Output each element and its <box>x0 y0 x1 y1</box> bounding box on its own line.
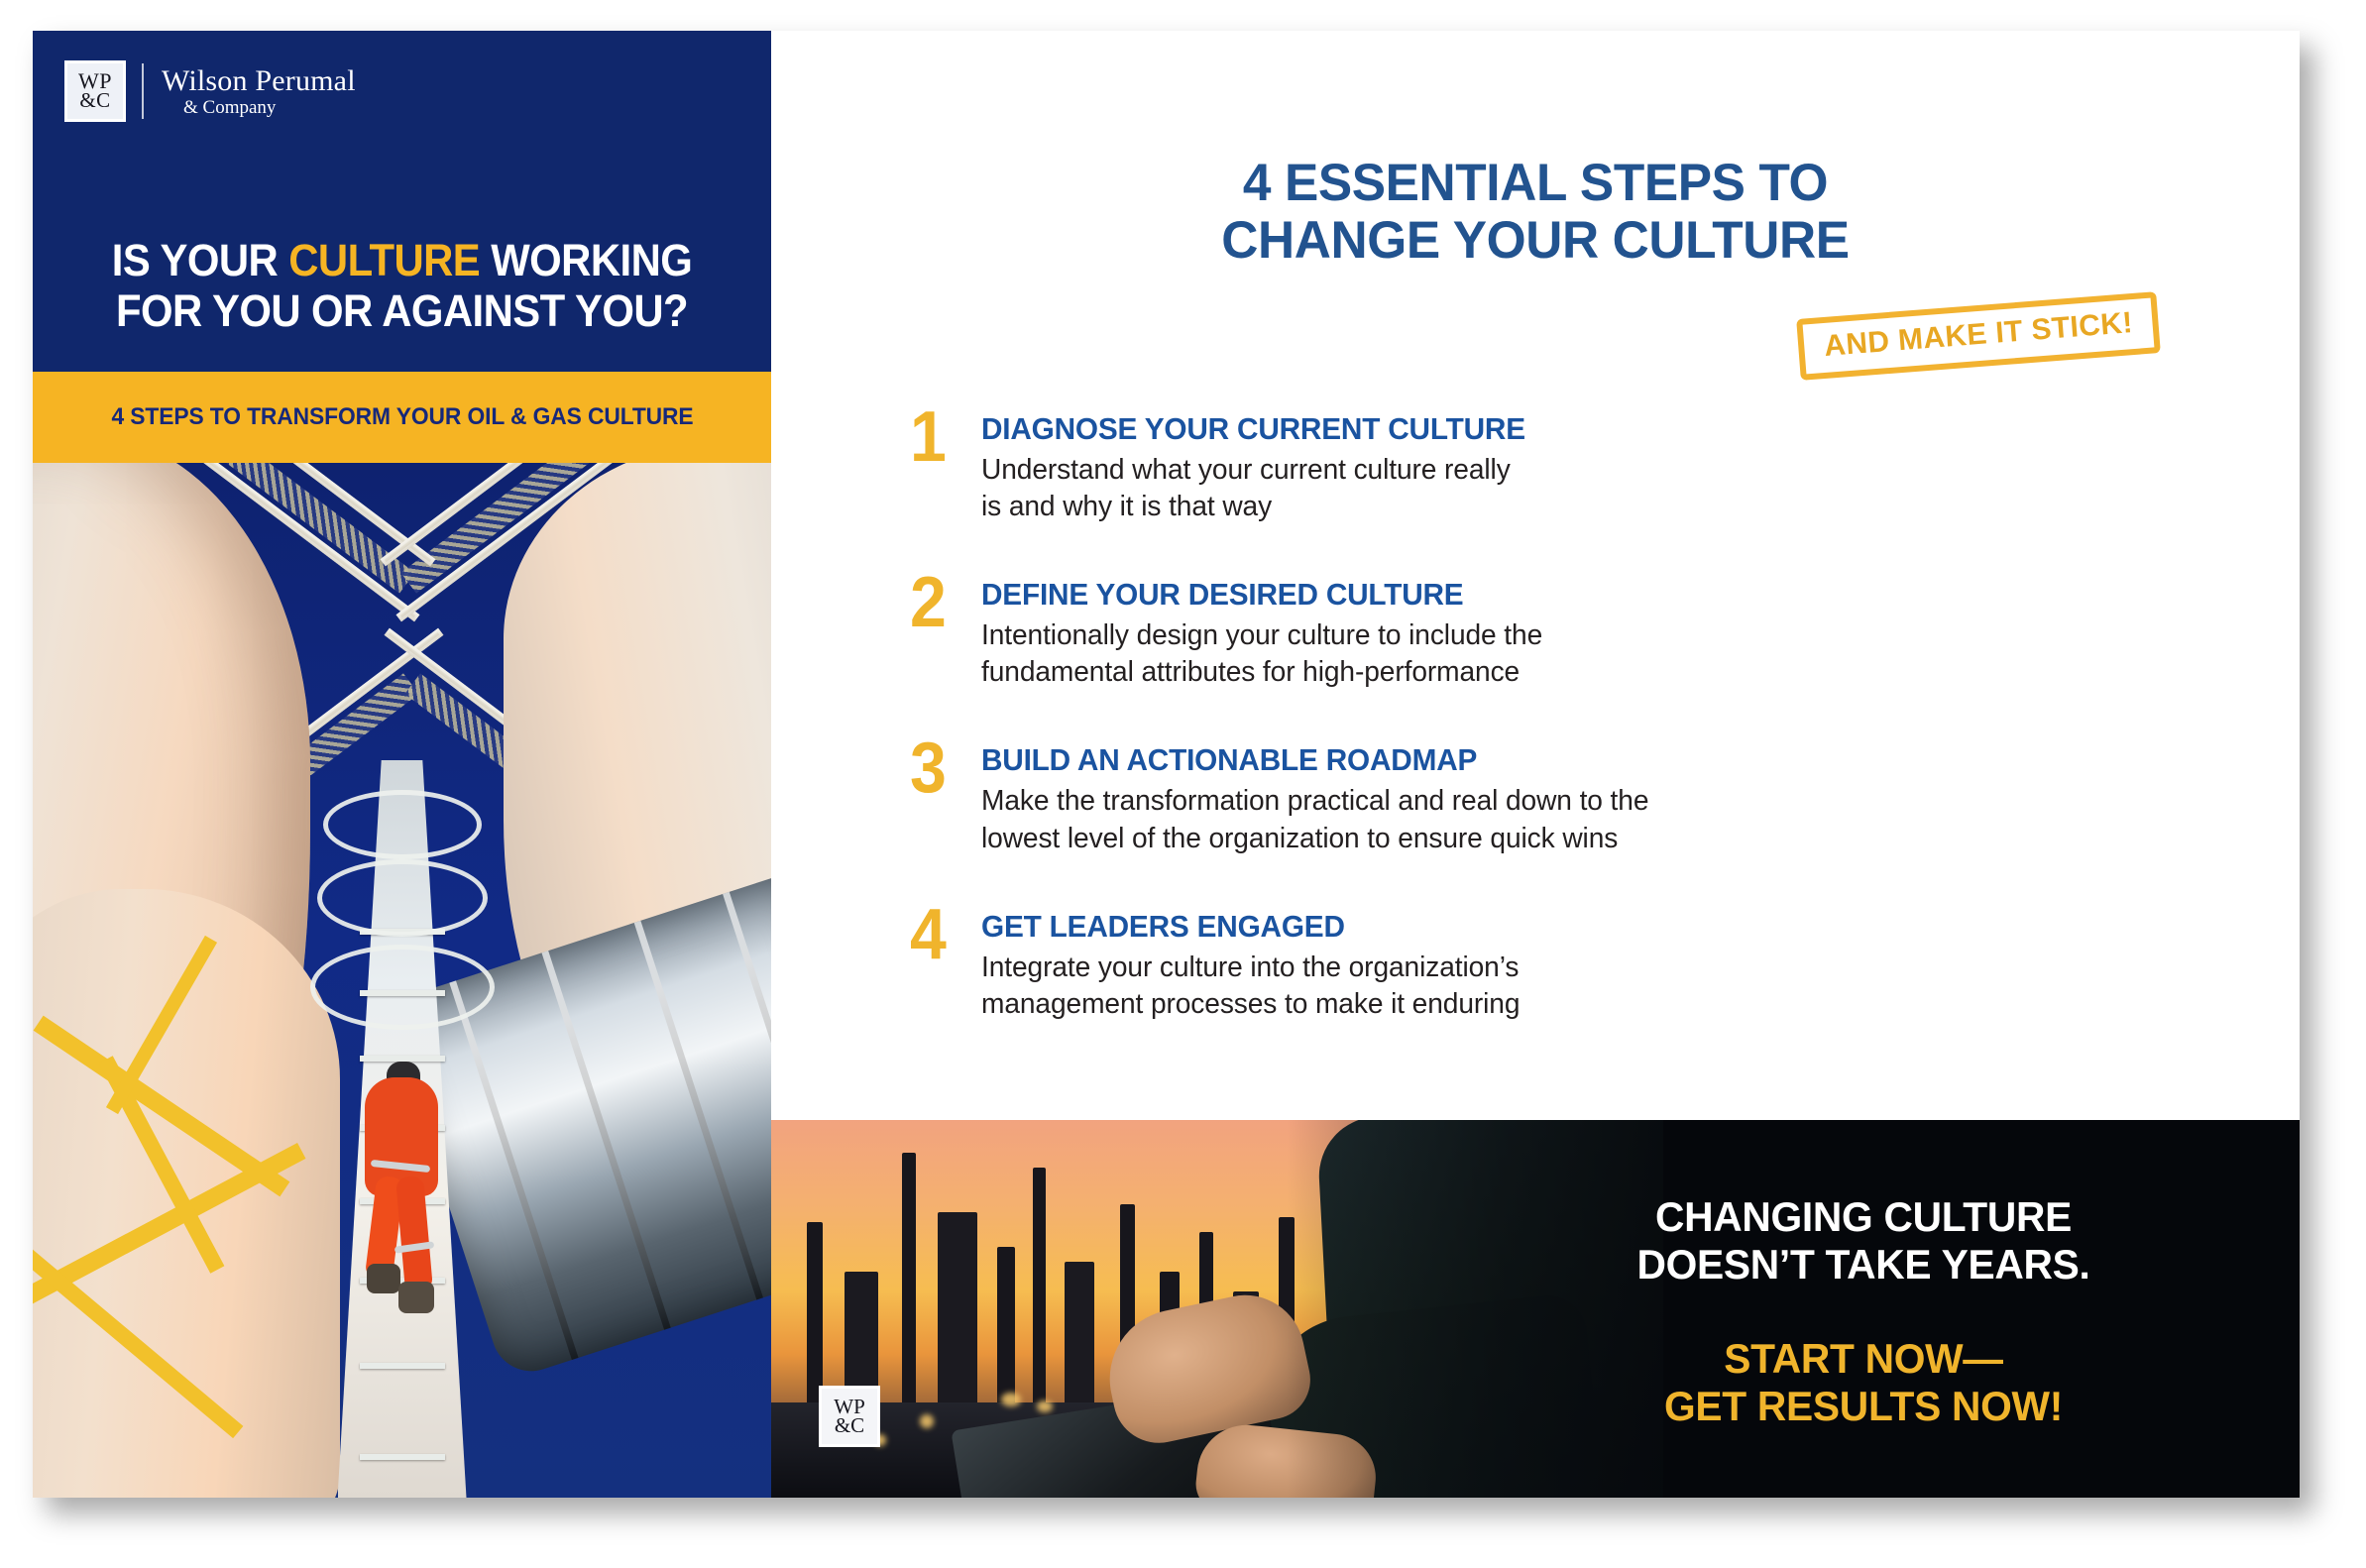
step-body: DIAGNOSE YOUR CURRENT CULTURE Understand… <box>981 407 2248 525</box>
cta-wpc-monogram-icon: WP &C <box>819 1386 880 1447</box>
page-title-line-2: CHANGE YOUR CULTURE <box>1221 211 1849 270</box>
step-description-line-1: Make the transformation practical and re… <box>981 785 1648 817</box>
step-description: Understand what your current culture rea… <box>981 452 2210 525</box>
step-number: 4 <box>910 905 975 964</box>
step-item: 1 DIAGNOSE YOUR CURRENT CULTURE Understa… <box>910 407 2248 525</box>
cover-panel: WP &C Wilson Perumal & Company IS YOUR C… <box>33 31 771 1498</box>
step-description-line-2: lowest level of the organization to ensu… <box>981 823 1618 854</box>
ladder-safety-cage-3 <box>310 945 495 1030</box>
step-description: Make the transformation practical and re… <box>981 783 2210 856</box>
cta-headline-line-2: DOESN’T TAKE YEARS. <box>1636 1241 2089 1288</box>
step-description-line-1: Integrate your culture into the organiza… <box>981 952 1519 983</box>
step-description-line-2: fundamental attributes for high-performa… <box>981 656 1520 688</box>
logo-divider <box>142 63 144 119</box>
step-item: 4 GET LEADERS ENGAGED Integrate your cul… <box>910 905 2248 1023</box>
page-title: 4 ESSENTIAL STEPS TO CHANGE YOUR CULTURE <box>794 155 2277 270</box>
step-body: BUILD AN ACTIONABLE ROADMAP Make the tra… <box>981 738 2248 856</box>
cta-banner: WP &C CHANGING CULTURE DOESN’T TAKE YEAR… <box>771 1120 2300 1498</box>
step-item: 2 DEFINE YOUR DESIRED CULTURE Intentiona… <box>910 573 2248 691</box>
worker-boot-left <box>367 1264 400 1293</box>
ladder-safety-cage-2 <box>317 859 488 937</box>
step-number: 1 <box>910 407 975 467</box>
step-description-line-2: management processes to make it enduring <box>981 988 1520 1020</box>
page-title-line-1: 4 ESSENTIAL STEPS TO <box>1243 154 1828 212</box>
cover-headline-part2: WORKING <box>480 235 692 285</box>
cover-headline-highlight: CULTURE <box>288 235 480 285</box>
bokeh-light <box>920 1414 934 1428</box>
worker-boot-right <box>398 1282 434 1313</box>
bokeh-light <box>1037 1400 1053 1412</box>
cta-call-to-action: START NOW— GET RESULTS NOW! <box>1498 1335 2228 1431</box>
step-title: DIAGNOSE YOUR CURRENT CULTURE <box>981 411 2197 447</box>
cta-call-to-action-line-1: START NOW— <box>1724 1335 2002 1382</box>
company-name: Wilson Perumal & Company <box>162 66 356 117</box>
refinery-stack <box>1065 1262 1094 1420</box>
step-number: 2 <box>910 573 975 632</box>
step-body: DEFINE YOUR DESIRED CULTURE Intentionall… <box>981 573 2248 691</box>
cover-gold-band: 4 STEPS TO TRANSFORM YOUR OIL & GAS CULT… <box>33 372 771 463</box>
make-it-stick-badge: AND MAKE IT STICK! <box>1796 291 2161 381</box>
pipe-ring-3 <box>634 921 763 1300</box>
worker-climbing-ladder <box>343 1077 462 1305</box>
ladder-rung <box>360 1454 445 1460</box>
cover-band-text: 4 STEPS TO TRANSFORM YOUR OIL & GAS CULT… <box>111 403 693 431</box>
cta-headline-line-1: CHANGING CULTURE <box>1655 1193 2072 1240</box>
step-title: GET LEADERS ENGAGED <box>981 909 2197 945</box>
step-title: DEFINE YOUR DESIRED CULTURE <box>981 577 2197 613</box>
step-description-line-1: Understand what your current culture rea… <box>981 454 1511 486</box>
cta-text-block: CHANGING CULTURE DOESN’T TAKE YEARS. STA… <box>1487 1193 2240 1430</box>
oil-rig-photo <box>33 463 771 1498</box>
company-name-line-1: Wilson Perumal <box>162 66 356 96</box>
cover-headline: IS YOUR CULTURE WORKING FOR YOU OR AGAIN… <box>58 235 745 337</box>
refinery-stack <box>1033 1168 1046 1420</box>
brochure-page: WP &C Wilson Perumal & Company IS YOUR C… <box>33 31 2300 1498</box>
cta-headline: CHANGING CULTURE DOESN’T TAKE YEARS. <box>1498 1193 2228 1289</box>
step-title: BUILD AN ACTIONABLE ROADMAP <box>981 742 2197 778</box>
cover-headline-line2: FOR YOU OR AGAINST YOU? <box>116 285 688 336</box>
steps-section: 4 ESSENTIAL STEPS TO CHANGE YOUR CULTURE… <box>771 31 2300 1120</box>
step-body: GET LEADERS ENGAGED Integrate your cultu… <box>981 905 2248 1023</box>
step-description: Intentionally design your culture to inc… <box>981 617 2210 691</box>
refinery-stack <box>902 1153 916 1420</box>
step-item: 3 BUILD AN ACTIONABLE ROADMAP Make the t… <box>910 738 2248 856</box>
wpc-monogram-icon: WP &C <box>64 60 126 122</box>
company-name-line-2: & Company <box>183 98 356 117</box>
steps-list: 1 DIAGNOSE YOUR CURRENT CULTURE Understa… <box>910 407 2248 1070</box>
cta-call-to-action-line-2: GET RESULTS NOW! <box>1664 1383 2063 1429</box>
bokeh-light <box>1001 1393 1021 1406</box>
content-panel: 4 ESSENTIAL STEPS TO CHANGE YOUR CULTURE… <box>771 31 2300 1498</box>
step-number: 3 <box>910 738 975 798</box>
refinery-stack <box>938 1212 977 1420</box>
company-logo: WP &C Wilson Perumal & Company <box>64 56 356 127</box>
ladder-rung <box>360 1363 445 1369</box>
cover-headline-part1: IS YOUR <box>112 235 288 285</box>
step-description: Integrate your culture into the organiza… <box>981 950 2210 1023</box>
step-description-line-1: Intentionally design your culture to inc… <box>981 619 1542 651</box>
step-description-line-2: is and why it is that way <box>981 491 1272 522</box>
ladder-safety-cage-1 <box>323 790 482 859</box>
cta-monogram-line-2: &C <box>835 1416 864 1435</box>
monogram-line-2: &C <box>79 91 110 110</box>
pipe-ring-2 <box>541 951 670 1330</box>
